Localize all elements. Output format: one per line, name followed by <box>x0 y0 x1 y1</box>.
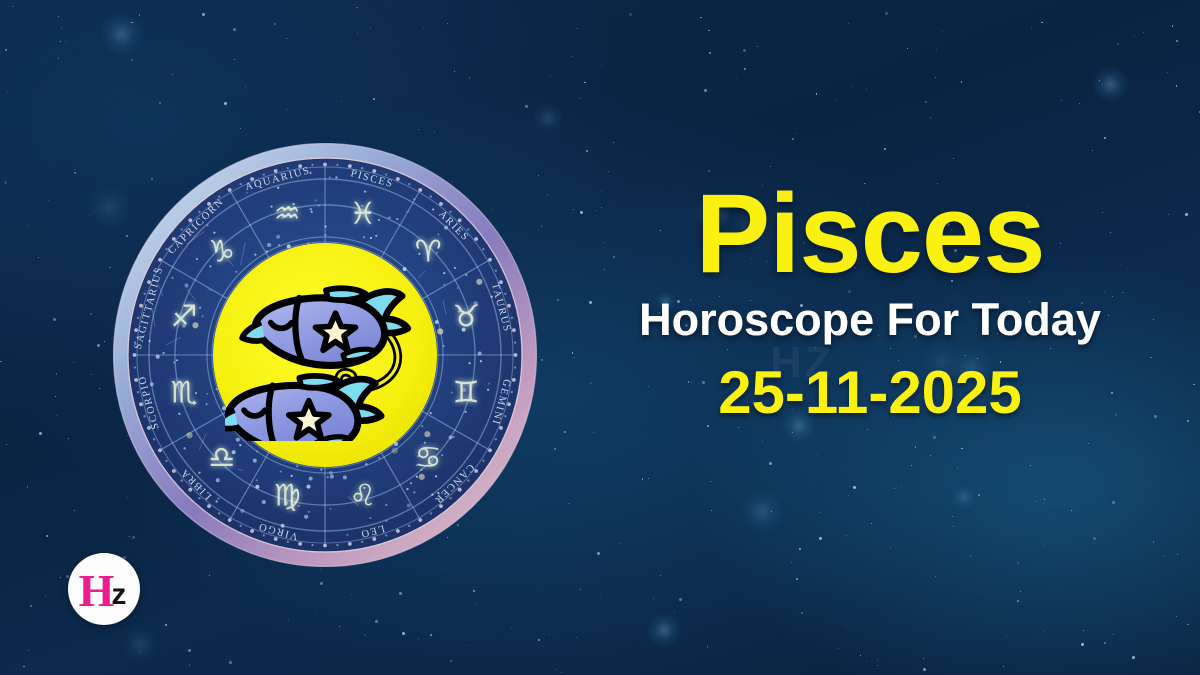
page-title: Pisces <box>560 178 1180 290</box>
headline-block: Pisces Horoscope For Today 25-11-2025 <box>560 178 1180 424</box>
brand-logo[interactable]: Hz <box>68 553 140 625</box>
zodiac-glyph-scorpio: ♏ <box>171 375 198 410</box>
zodiac-glyph-aquarius: ♒ <box>274 196 301 231</box>
zodiac-glyph-sagittarius: ♐ <box>171 300 198 335</box>
date-label: 25-11-2025 <box>560 361 1180 424</box>
zodiac-glyph-cancer: ♋ <box>415 441 442 476</box>
zodiac-glyph-virgo: ♍ <box>274 479 301 514</box>
zodiac-wheel: ♓♈♉♊♋♌♍♎♏♐♑♒ PISCESARIESTAURUSGEMINICANC… <box>113 143 537 567</box>
zodiac-glyph-aries: ♈ <box>415 234 442 269</box>
zodiac-glyph-capricorn: ♑ <box>208 234 235 269</box>
zodiac-glyph-pisces: ♓ <box>349 196 376 231</box>
fish-lower <box>225 376 381 441</box>
zodiac-glyph-leo: ♌ <box>349 479 376 514</box>
fish-upper <box>242 288 408 365</box>
logo-letter-h: H <box>79 568 115 614</box>
pisces-fish-icon <box>225 269 425 441</box>
logo-letter-z: z <box>111 580 126 610</box>
zodiac-glyph-gemini: ♊ <box>453 375 480 410</box>
zodiac-glyph-libra: ♎ <box>208 441 235 476</box>
subtitle: Horoscope For Today <box>560 296 1180 343</box>
poster-canvas: ♓♈♉♊♋♌♍♎♏♐♑♒ PISCESARIESTAURUSGEMINICANC… <box>0 0 1200 675</box>
zodiac-glyph-taurus: ♉ <box>453 300 480 335</box>
